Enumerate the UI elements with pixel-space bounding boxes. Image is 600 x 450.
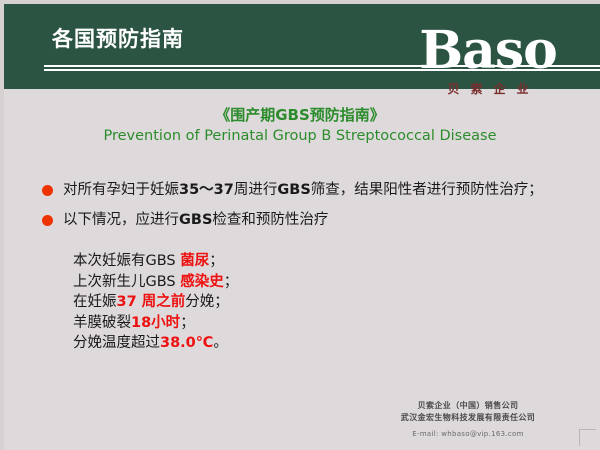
brand-logo: Baso bbox=[388, 26, 588, 76]
list-item: 在妊娠37 周之前分娩； bbox=[73, 292, 238, 313]
bullet-item-text: 对所有孕妇于妊娠35～37周进行GBS筛查，结果阳性者进行预防性治疗； bbox=[63, 181, 543, 200]
footer-company-line-1: 贝索企业（中国）销售公司 bbox=[358, 400, 578, 412]
brand-logo-wordmark: Baso bbox=[388, 26, 588, 76]
footer-email: E-mail: whbaso@vip.163.com bbox=[358, 430, 578, 438]
slide-title-english: Prevention of Perinatal Group B Streptoc… bbox=[0, 128, 600, 144]
corner-crop-mark bbox=[579, 429, 596, 446]
header-banner: 各国预防指南 Baso bbox=[4, 4, 600, 89]
page-title: 各国预防指南 bbox=[52, 23, 184, 53]
list-item: 本次妊娠有GBS 菌尿； bbox=[73, 251, 238, 272]
list-item: 分娩温度超过38.0℃。 bbox=[73, 333, 238, 354]
sub-condition-list: 本次妊娠有GBS 菌尿； 上次新生儿GBS 感染史； 在妊娠37 周之前分娩； … bbox=[73, 251, 238, 354]
slide-canvas: 各国预防指南 Baso 贝索企业 《围产期GBS预防指南》 Prevention… bbox=[0, 0, 600, 450]
footer-company-line-2: 武汉金宏生物科技发展有限责任公司 bbox=[358, 412, 578, 424]
bullet-dot-icon bbox=[42, 185, 53, 196]
list-item: 上次新生儿GBS 感染史； bbox=[73, 272, 238, 293]
bullet-item-text: 以下情况，应进行GBS检查和预防性治疗 bbox=[63, 211, 328, 230]
bullet-item: 以下情况，应进行GBS检查和预防性治疗 bbox=[42, 211, 590, 230]
slide-title-chinese: 《围产期GBS预防指南》 bbox=[0, 104, 600, 125]
bullet-dot-icon bbox=[42, 215, 53, 226]
list-item: 羊膜破裂18小时； bbox=[73, 313, 238, 334]
brand-logo-subtitle: 贝索企业 bbox=[388, 80, 588, 97]
bullet-item: 对所有孕妇于妊娠35～37周进行GBS筛查，结果阳性者进行预防性治疗； bbox=[42, 181, 590, 200]
footer-contact-block: 贝索企业（中国）销售公司 武汉金宏生物科技发展有限责任公司 E-mail: wh… bbox=[358, 400, 578, 438]
